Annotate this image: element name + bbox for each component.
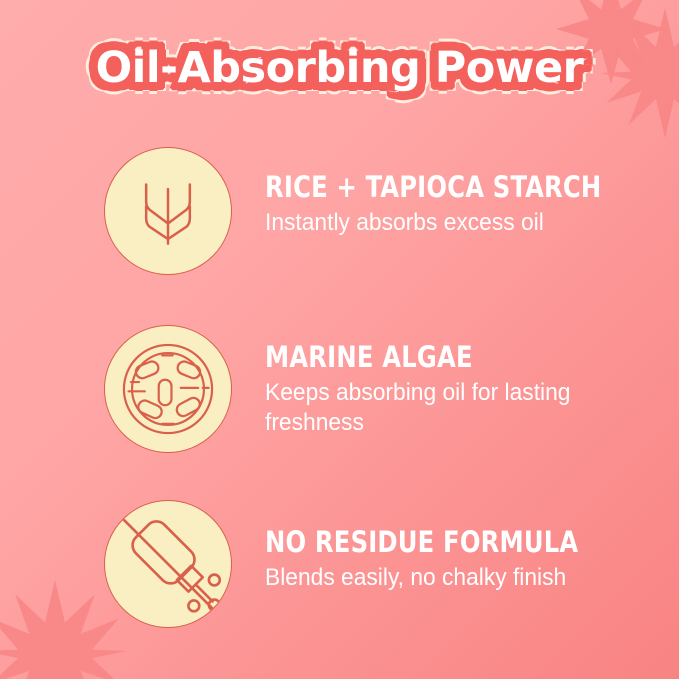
marine-algae-petri-dish-icon bbox=[110, 331, 226, 447]
feature-heading: RICE + TAPIOCA STARCH bbox=[265, 171, 601, 203]
feature-description: Keeps absorbing oil for lasting freshnes… bbox=[265, 378, 606, 438]
icon-badge bbox=[104, 147, 232, 275]
feature-row: RICE + TAPIOCA STARCH Instantly absorbs … bbox=[104, 147, 624, 275]
feature-text: RICE + TAPIOCA STARCH Instantly absorbs … bbox=[265, 147, 627, 238]
feature-heading: MARINE ALGAE bbox=[265, 341, 599, 373]
title-banner: Oil-Absorbing Power bbox=[0, 38, 679, 98]
feature-description: Blends easily, no chalky finish bbox=[265, 563, 585, 593]
feature-row: MARINE ALGAE Keeps absorbing oil for las… bbox=[104, 325, 624, 453]
icon-badge bbox=[104, 325, 232, 453]
bottle-droplets-icon bbox=[105, 501, 231, 627]
feature-row: NO RESIDUE FORMULA Blends easily, no cha… bbox=[104, 500, 624, 628]
feature-heading: NO RESIDUE FORMULA bbox=[265, 526, 578, 558]
feature-description: Instantly absorbs excess oil bbox=[265, 208, 609, 238]
feature-text: NO RESIDUE FORMULA Blends easily, no cha… bbox=[265, 500, 602, 593]
feature-text: MARINE ALGAE Keeps absorbing oil for las… bbox=[265, 325, 624, 438]
wheat-grain-icon bbox=[129, 172, 207, 250]
page-title: Oil-Absorbing Power bbox=[82, 38, 598, 98]
infographic-card: Oil-Absorbing Power RICE + TAPIOCA STARC… bbox=[0, 0, 679, 679]
icon-badge bbox=[104, 500, 232, 628]
